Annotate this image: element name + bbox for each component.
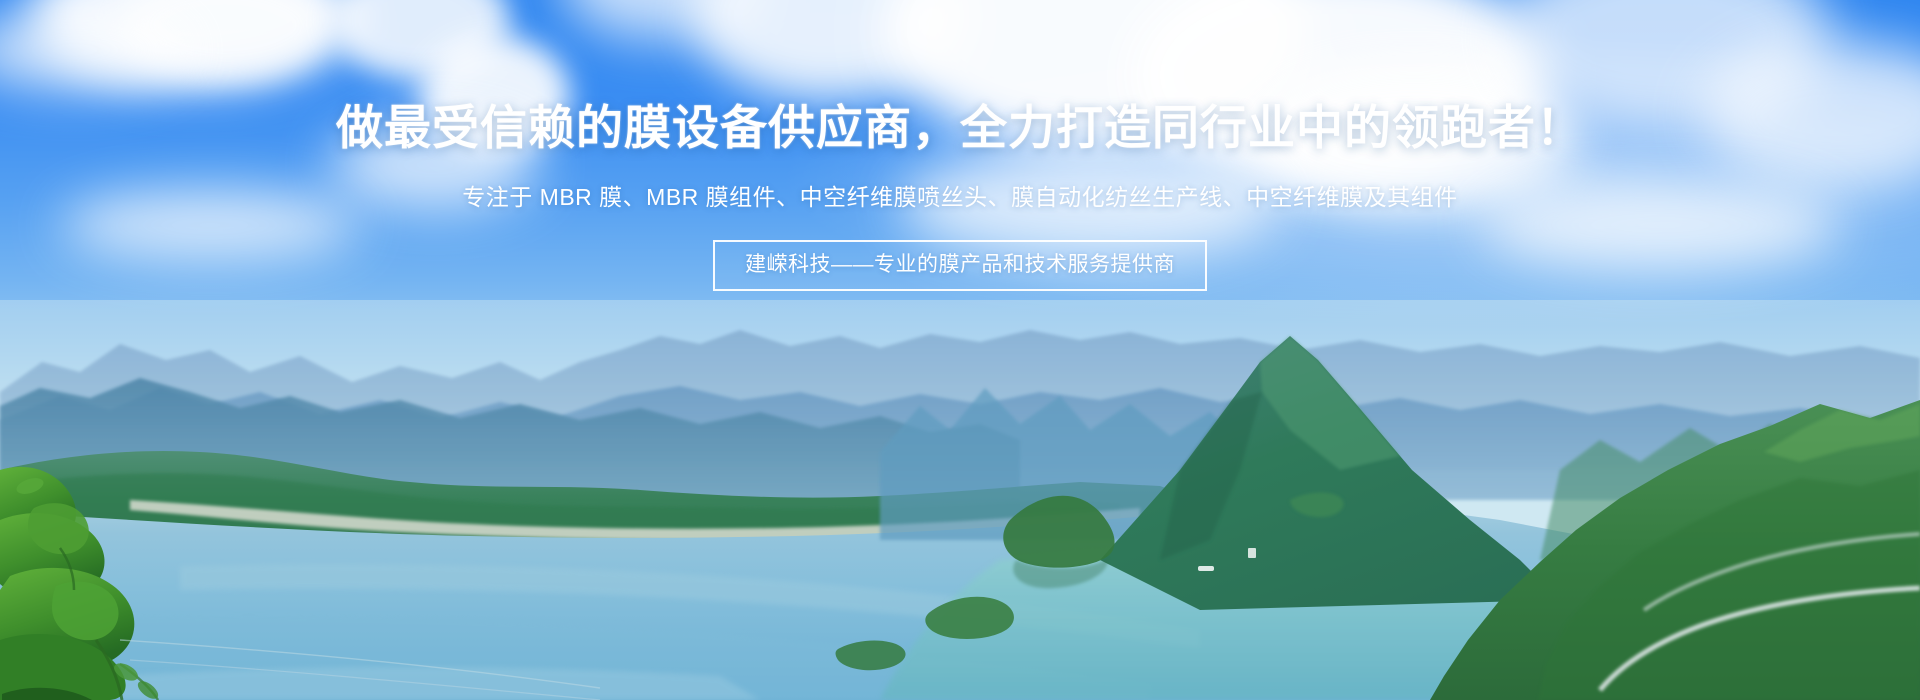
landscape-illustration — [0, 0, 1920, 700]
boat-speck — [1198, 566, 1214, 571]
building-speck — [1248, 548, 1256, 558]
hero-banner: 做最受信赖的膜设备供应商，全力打造同行业中的领跑者！ 专注于 MBR 膜、MBR… — [0, 0, 1920, 700]
